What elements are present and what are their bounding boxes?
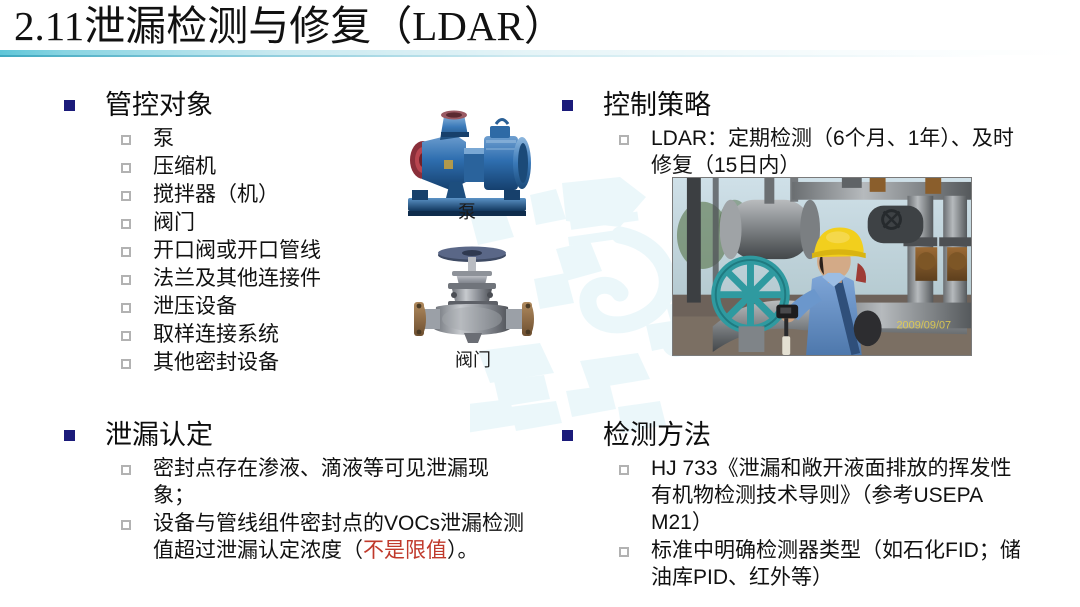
bullet-square-icon (64, 100, 75, 111)
section-heading-control-targets: 管控对象 (105, 88, 213, 122)
list-item: 泵 (121, 125, 394, 152)
list-item-label: 阀门 (153, 209, 195, 236)
hollow-square-bullet-icon (121, 520, 131, 530)
bullet-square-icon (64, 430, 75, 441)
bullet-square-icon (562, 430, 573, 441)
hollow-square-bullet-icon (121, 191, 131, 201)
list-item: LDAR：定期检测（6个月、1年）、及时修复（15日内） (619, 125, 1022, 179)
bullet-square-icon (562, 100, 573, 111)
section-heading-leak-definition: 泄漏认定 (105, 418, 213, 452)
list-item: 泄压设备 (121, 293, 394, 320)
hollow-square-bullet-icon (121, 163, 131, 173)
slide-canvas: 2.11泄漏检测与修复（LDAR） 管控对象 泵 压缩机 搅拌器（机） 阀门 (0, 0, 1080, 607)
list-item-label: 取样连接系统 (153, 321, 279, 348)
hollow-square-bullet-icon (619, 547, 629, 557)
list-item-label: 泵 (153, 125, 174, 152)
list-item-label: 密封点存在渗液、滴液等可见泄漏现象； (153, 455, 525, 509)
list-item: 法兰及其他连接件 (121, 265, 394, 292)
section-heading-row: 控制策略 (562, 88, 1022, 122)
list-item: 密封点存在渗液、滴液等可见泄漏现象； (121, 455, 534, 509)
hollow-square-bullet-icon (121, 135, 131, 145)
list-item: 标准中明确检测器类型（如石化FID；储油库PID、红外等） (619, 537, 1032, 591)
hollow-square-bullet-icon (121, 331, 131, 341)
valve-figure-image (402, 243, 544, 351)
hollow-square-bullet-icon (619, 135, 629, 145)
list-item-label: 压缩机 (153, 153, 216, 180)
list-item: 搅拌器（机） (121, 181, 394, 208)
list-item-label: LDAR：定期检测（6个月、1年）、及时修复（15日内） (651, 125, 1019, 179)
section-heading-row: 管控对象 (64, 88, 394, 122)
control-strategy-list: LDAR：定期检测（6个月、1年）、及时修复（15日内） (562, 125, 1022, 179)
list-item: 压缩机 (121, 153, 394, 180)
list-item-label: 泄压设备 (153, 293, 237, 320)
hollow-square-bullet-icon (121, 219, 131, 229)
list-item-label: 开口阀或开口管线 (153, 237, 321, 264)
list-item-label: HJ 733《泄漏和敞开液面排放的挥发性有机物检测技术导则》（参考USEPA M… (651, 455, 1023, 536)
section-leak-definition: 泄漏认定 密封点存在渗液、滴液等可见泄漏现象； 设备与管线组件密封点的VOCs泄… (64, 418, 534, 565)
list-item-label: 搅拌器（机） (153, 181, 279, 208)
section-detection-methods: 检测方法 HJ 733《泄漏和敞开液面排放的挥发性有机物检测技术导则》（参考US… (562, 418, 1032, 592)
section-control-strategy: 控制策略 LDAR：定期检测（6个月、1年）、及时修复（15日内） (562, 88, 1022, 180)
section-heading-control-strategy: 控制策略 (603, 88, 711, 122)
hollow-square-bullet-icon (121, 247, 131, 257)
list-item: 阀门 (121, 209, 394, 236)
list-item-label: 设备与管线组件密封点的VOCs泄漏检测值超过泄漏认定浓度（不是限值）。 (153, 510, 525, 564)
hollow-square-bullet-icon (121, 275, 131, 285)
list-item: 设备与管线组件密封点的VOCs泄漏检测值超过泄漏认定浓度（不是限值）。 (121, 510, 534, 564)
list-item-text-after: ）。 (447, 539, 479, 562)
section-heading-detection-methods: 检测方法 (603, 418, 711, 452)
hollow-square-bullet-icon (121, 359, 131, 369)
section-control-targets: 管控对象 泵 压缩机 搅拌器（机） 阀门 开口阀或开口管线 (64, 88, 394, 377)
control-targets-list: 泵 压缩机 搅拌器（机） 阀门 开口阀或开口管线 法兰及其他连接件 (64, 125, 394, 376)
highlighted-text-not-a-limit: 不是限值 (363, 539, 447, 562)
field-inspection-photo: 2009/09/07 (672, 177, 972, 356)
pump-figure-caption: 泵 (392, 200, 542, 224)
list-item: 其他密封设备 (121, 349, 394, 376)
hollow-square-bullet-icon (121, 465, 131, 475)
list-item: 开口阀或开口管线 (121, 237, 394, 264)
detection-methods-list: HJ 733《泄漏和敞开液面排放的挥发性有机物检测技术导则》（参考USEPA M… (562, 455, 1032, 591)
hollow-square-bullet-icon (121, 303, 131, 313)
svg-text:2009/09/07: 2009/09/07 (897, 319, 952, 331)
section-heading-row: 检测方法 (562, 418, 1032, 452)
list-item-label: 法兰及其他连接件 (153, 265, 321, 292)
valve-figure-caption: 阀门 (402, 348, 544, 372)
slide-title: 2.11泄漏检测与修复（LDAR） (14, 0, 565, 52)
list-item: 取样连接系统 (121, 321, 394, 348)
list-item-label: 标准中明确检测器类型（如石化FID；储油库PID、红外等） (651, 537, 1023, 591)
leak-definition-list: 密封点存在渗液、滴液等可见泄漏现象； 设备与管线组件密封点的VOCs泄漏检测值超… (64, 455, 534, 564)
section-heading-row: 泄漏认定 (64, 418, 534, 452)
list-item: HJ 733《泄漏和敞开液面排放的挥发性有机物检测技术导则》（参考USEPA M… (619, 455, 1032, 536)
list-item-label: 其他密封设备 (153, 349, 279, 376)
hollow-square-bullet-icon (619, 465, 629, 475)
